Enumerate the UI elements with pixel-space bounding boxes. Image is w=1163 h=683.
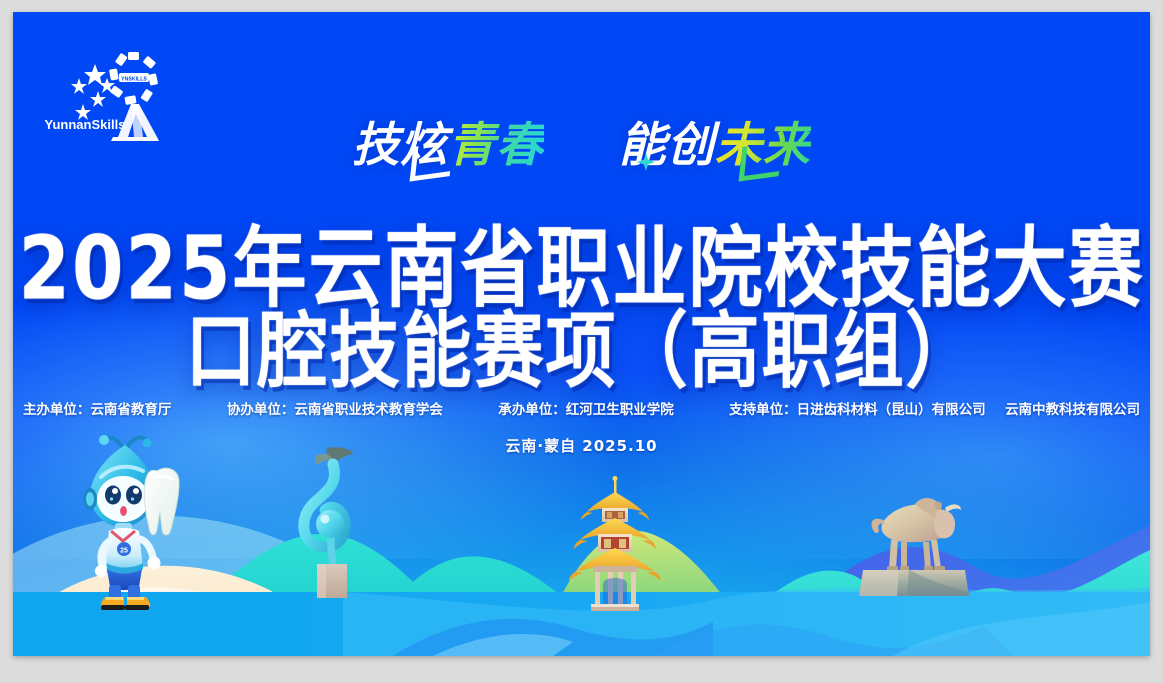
logo-badge-text: YNSKILLS bbox=[121, 76, 147, 82]
bull-statue-icon bbox=[849, 476, 977, 596]
tagline-sparkle-icon bbox=[637, 128, 655, 146]
tagline-check-mark-icon bbox=[410, 141, 454, 181]
tagline-check-mark-icon-2 bbox=[739, 141, 783, 181]
competition-poster: YNSKILLS YunnanSkills 技炫青春 能创未来 bbox=[13, 12, 1150, 656]
screenshot-root: YNSKILLS YunnanSkills 技炫青春 能创未来 bbox=[0, 0, 1163, 683]
svg-text:25: 25 bbox=[120, 548, 128, 555]
poster-title-line-2: 口腔技能赛项（高职组） bbox=[13, 285, 1150, 404]
chinese-pagoda-icon bbox=[569, 476, 661, 614]
tagline-part-2: 青春 bbox=[448, 118, 544, 173]
tooth-robot-mascot-icon: 25 bbox=[65, 427, 185, 612]
tagline-part-3: 能创 bbox=[619, 118, 715, 173]
abstract-water-drop-sculpture-icon bbox=[281, 446, 391, 598]
poster-tagline: 技炫青春 能创未来 bbox=[13, 106, 1150, 175]
